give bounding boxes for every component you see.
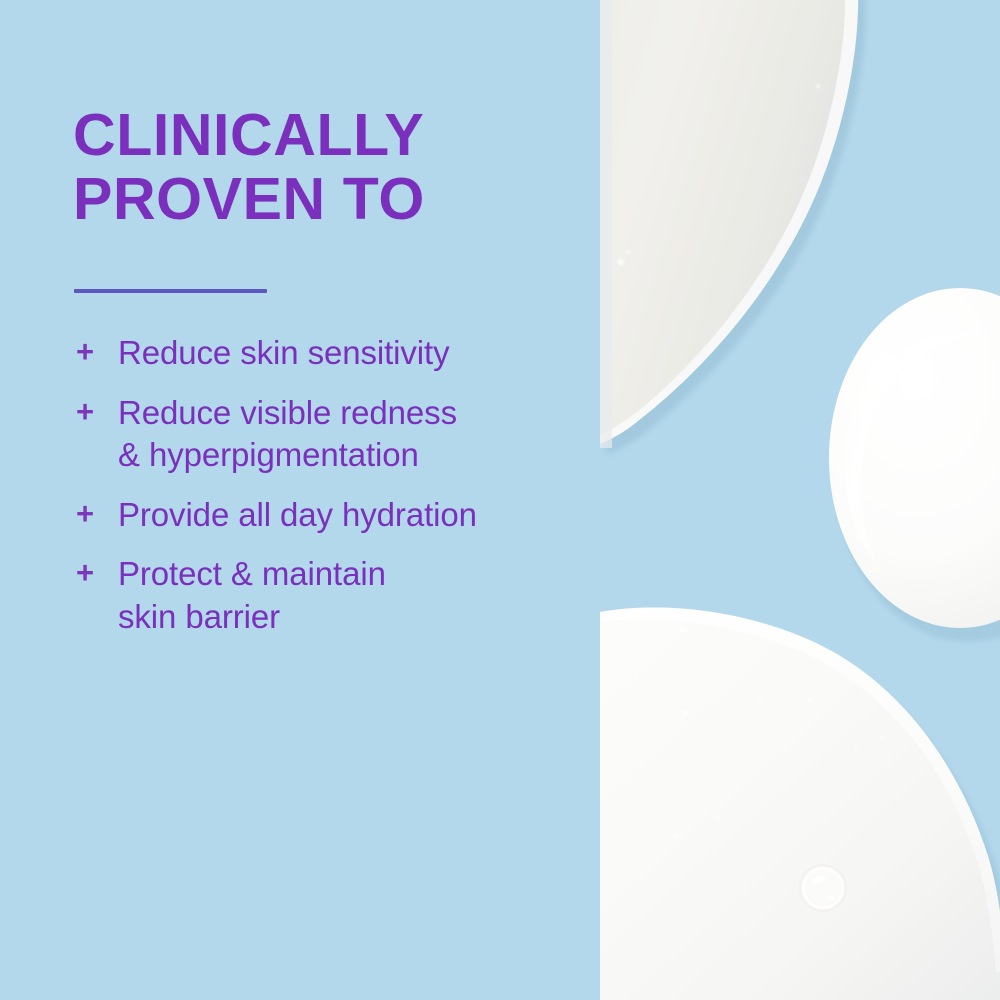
list-item: + Reduce visible redness & hyperpigmenta… xyxy=(73,392,593,477)
headline-line-1: Clinically xyxy=(73,104,573,168)
benefit-label: Reduce visible redness & hyperpigmentati… xyxy=(118,392,593,477)
list-item: + Protect & maintain skin barrier xyxy=(73,553,593,638)
list-item: + Reduce skin sensitivity xyxy=(73,332,593,375)
list-item: + Provide all day hydration xyxy=(73,494,593,537)
product-benefits-graphic: Clinically Proven To + Reduce skin sensi… xyxy=(0,0,1000,1000)
copy-column: Clinically Proven To + Reduce skin sensi… xyxy=(73,0,593,1000)
benefits-list: + Reduce skin sensitivity + Reduce visib… xyxy=(73,332,593,655)
glossy-serum-droplet xyxy=(829,288,1000,642)
divider xyxy=(74,289,267,293)
plus-icon: + xyxy=(73,553,118,593)
plus-icon: + xyxy=(73,392,118,432)
white-cream-puddle xyxy=(600,608,1000,1000)
page-title: Clinically Proven To xyxy=(73,104,573,231)
plus-icon: + xyxy=(73,494,118,534)
benefit-label: Reduce skin sensitivity xyxy=(118,332,593,375)
benefit-label: Provide all day hydration xyxy=(118,494,593,537)
air-bubble xyxy=(799,864,847,912)
benefit-label: Protect & maintain skin barrier xyxy=(118,553,593,638)
cream-serum-smear xyxy=(600,0,866,455)
headline-line-2: Proven To xyxy=(73,168,573,232)
plus-icon: + xyxy=(73,332,118,372)
